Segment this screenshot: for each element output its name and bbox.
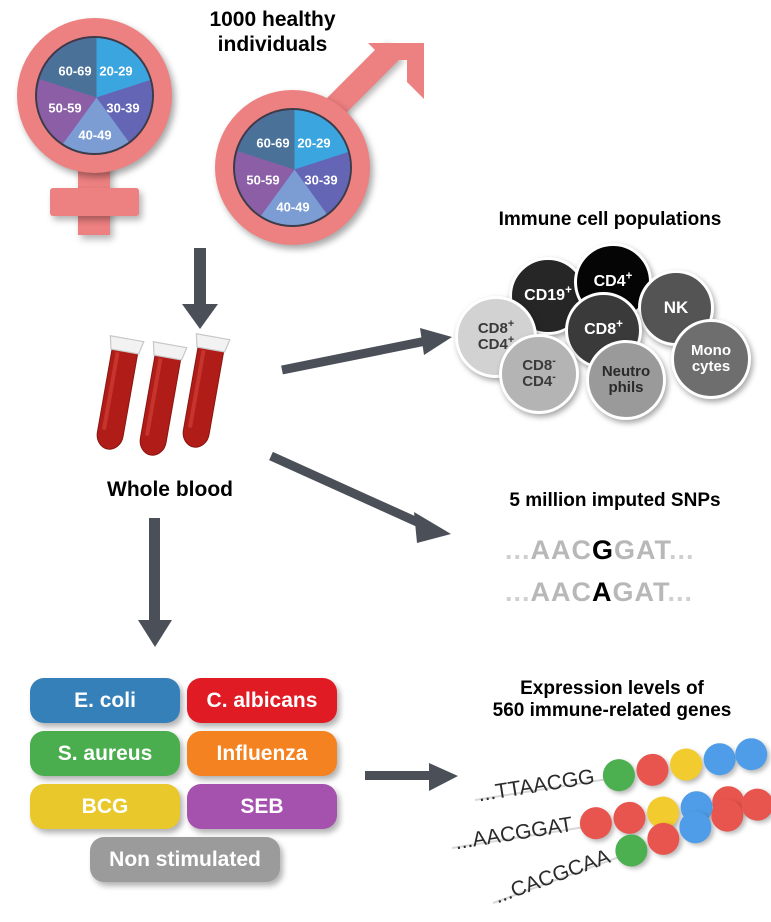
- male-pie-label-60-69: 60-69: [256, 136, 289, 151]
- stimulus-label: Influenza: [216, 742, 307, 766]
- immune-cell-label: Neutro: [602, 364, 650, 380]
- stimulus-s-aureus[interactable]: S. aureus: [30, 731, 180, 776]
- female-symbol: 20-29 30-39 40-49 50-59 60-69: [10, 10, 200, 230]
- immune-cell-label: CD4-: [522, 374, 556, 390]
- cohort-heading-line1: 1000 healthy: [180, 8, 365, 33]
- immune-cell-label: Mono: [691, 343, 731, 359]
- arrow-cohort-to-blood: [180, 248, 220, 330]
- snp-suffix: ...: [668, 577, 694, 607]
- immune-cell-label: CD4+: [594, 274, 633, 291]
- snp-right: GAT: [613, 577, 668, 607]
- stimulus-influenza[interactable]: Influenza: [187, 731, 337, 776]
- immune-cell-label: CD8-: [522, 358, 556, 374]
- male-pie-label-30-39: 30-39: [304, 173, 337, 188]
- snps-title: 5 million imputed SNPs: [470, 490, 760, 512]
- arrow-blood-to-immune: [280, 328, 455, 378]
- female-pie-label-50-59: 50-59: [48, 101, 81, 116]
- male-pie-label-20-29: 20-29: [297, 136, 330, 151]
- strand-bead: [668, 746, 705, 783]
- stimulus-label: S. aureus: [58, 742, 153, 766]
- stimulus-e-coli[interactable]: E. coli: [30, 678, 180, 723]
- strand-bead: [601, 757, 638, 794]
- blood-tubes-group: [95, 330, 245, 455]
- immune-cell-cd8n-cd4n: CD8- CD4-: [499, 334, 579, 414]
- figure-canvas: 1000 healthy individuals 20-29 30-39 40-…: [0, 0, 771, 922]
- snp-sequence-row: ...AACAGAT...: [505, 577, 693, 608]
- strand-bead: [578, 805, 615, 842]
- female-pie-label-30-39: 30-39: [106, 101, 139, 116]
- expression-title-line1: Expression levels of: [458, 678, 766, 700]
- immune-cell-label: phils: [608, 380, 643, 396]
- male-symbol: 20-29 30-39 40-49 50-59 60-69: [205, 45, 420, 250]
- snp-variant-allele: G: [592, 535, 614, 565]
- strand-bead: [733, 736, 770, 773]
- immune-cell-label: cytes: [692, 359, 730, 375]
- stimulus-seb[interactable]: SEB: [187, 784, 337, 829]
- expression-title-line2: 560 immune-related genes: [458, 700, 766, 722]
- male-arrowhead: [350, 39, 430, 119]
- female-stem-cross: [50, 188, 139, 216]
- male-pie-label-40-49: 40-49: [276, 200, 309, 215]
- female-pie-label-40-49: 40-49: [78, 128, 111, 143]
- snp-variant-allele: A: [592, 577, 613, 607]
- snp-right: GAT: [614, 535, 669, 565]
- female-pie-label-20-29: 20-29: [99, 64, 132, 79]
- expression-title: Expression levels of 560 immune-related …: [458, 678, 766, 723]
- strand-bead: [643, 818, 684, 859]
- stimulus-bcg[interactable]: BCG: [30, 784, 180, 829]
- immune-cell-label: CD8+: [584, 322, 623, 339]
- strand-bead: [701, 741, 738, 778]
- arrow-stimuli-to-expression: [365, 760, 460, 796]
- stimulus-non-stimulated[interactable]: Non stimulated: [90, 837, 280, 882]
- stimuli-group: E. coli C. albicans S. aureus Influenza …: [30, 678, 340, 893]
- strand-bead: [634, 752, 671, 789]
- immune-cells-group: CD19+ CD4+ NK CD8+ CD4+ CD8+ Mono cytes …: [455, 240, 771, 420]
- snp-left: AAC: [531, 535, 593, 565]
- immune-title: Immune cell populations: [455, 209, 765, 231]
- stimulus-label: E. coli: [74, 689, 136, 713]
- immune-cell-label: CD19+: [524, 288, 572, 305]
- stimulus-label: BCG: [82, 795, 129, 819]
- expression-strands-group: ...TTAACGG ...AACGGAT ...CACGCAA: [455, 735, 771, 920]
- male-age-pie: 20-29 30-39 40-49 50-59 60-69: [233, 108, 352, 227]
- strand-sequence: ...AACGGAT: [453, 813, 574, 855]
- snp-sequence-row: ...AACGGAT...: [505, 535, 695, 566]
- immune-cell-label: NK: [664, 299, 689, 317]
- stimulus-label: C. albicans: [207, 689, 318, 713]
- arrow-blood-to-snps: [268, 448, 458, 553]
- stimulus-label: Non stimulated: [109, 848, 261, 872]
- female-age-pie: 20-29 30-39 40-49 50-59 60-69: [35, 36, 154, 155]
- female-pie-label-60-69: 60-69: [58, 64, 91, 79]
- male-pie-label-50-59: 50-59: [246, 173, 279, 188]
- arrow-blood-to-stimuli: [135, 518, 175, 648]
- strand-bead: [611, 830, 652, 871]
- strand-bead: [675, 807, 716, 848]
- snp-prefix: ...: [505, 577, 531, 607]
- immune-cell-neutrophils: Neutro phils: [586, 340, 666, 420]
- strand-sequence: ...TTAACGG: [476, 765, 596, 807]
- whole-blood-label: Whole blood: [70, 478, 270, 503]
- stimulus-c-albicans[interactable]: C. albicans: [187, 678, 337, 723]
- snp-left: AAC: [531, 577, 593, 607]
- snp-suffix: ...: [669, 535, 695, 565]
- stimulus-label: SEB: [240, 795, 283, 819]
- snp-prefix: ...: [505, 535, 531, 565]
- immune-cell-monocytes: Mono cytes: [671, 319, 751, 399]
